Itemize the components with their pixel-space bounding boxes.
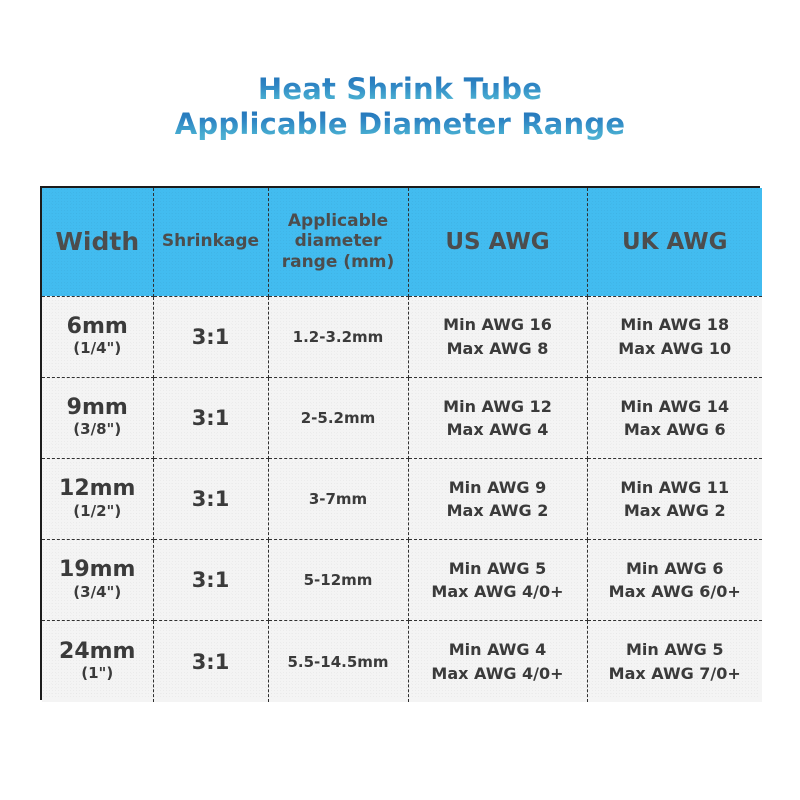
uk-awg-min: Min AWG 18 — [592, 313, 759, 336]
cell-diameter-range: 1.2-3.2mm — [268, 296, 408, 377]
header-range-line-3: range (mm) — [282, 252, 395, 272]
cell-shrinkage: 3:1 — [153, 540, 268, 621]
cell-uk-awg: Min AWG 6 Max AWG 6/0+ — [587, 540, 762, 621]
width-inch-value: (3/4") — [46, 583, 149, 603]
cell-uk-awg: Min AWG 14 Max AWG 6 — [587, 377, 762, 458]
page-title: Heat Shrink Tube Applicable Diameter Ran… — [0, 72, 800, 143]
table-row: 19mm (3/4") 3:1 5-12mm Min AWG 5 Max AWG… — [42, 540, 762, 621]
uk-awg-max: Max AWG 6 — [592, 418, 759, 441]
cell-uk-awg: Min AWG 11 Max AWG 2 — [587, 458, 762, 539]
cell-us-awg: Min AWG 5 Max AWG 4/0+ — [408, 540, 587, 621]
table-row: 12mm (1/2") 3:1 3-7mm Min AWG 9 Max AWG … — [42, 458, 762, 539]
width-inch-value: (1/4") — [46, 339, 149, 359]
column-header-width: Width — [42, 188, 153, 296]
uk-awg-min: Min AWG 5 — [592, 638, 759, 661]
spec-sheet-page: Heat Shrink Tube Applicable Diameter Ran… — [0, 0, 800, 800]
table-body: 6mm (1/4") 3:1 1.2-3.2mm Min AWG 16 Max … — [42, 296, 762, 702]
width-inch-value: (3/8") — [46, 420, 149, 440]
uk-awg-min: Min AWG 11 — [592, 476, 759, 499]
cell-us-awg: Min AWG 16 Max AWG 8 — [408, 296, 587, 377]
uk-awg-max: Max AWG 2 — [592, 499, 759, 522]
width-value: 24mm — [46, 640, 149, 665]
column-header-shrinkage: Shrinkage — [153, 188, 268, 296]
title-line-2: Applicable Diameter Range — [0, 107, 800, 142]
cell-width: 12mm (1/2") — [42, 458, 153, 539]
width-inch-value: (1/2") — [46, 502, 149, 522]
cell-shrinkage: 3:1 — [153, 377, 268, 458]
us-awg-min: Min AWG 12 — [413, 395, 583, 418]
cell-shrinkage: 3:1 — [153, 296, 268, 377]
table-row: 6mm (1/4") 3:1 1.2-3.2mm Min AWG 16 Max … — [42, 296, 762, 377]
cell-shrinkage: 3:1 — [153, 458, 268, 539]
column-header-diameter-range: Applicable diameter range (mm) — [268, 188, 408, 296]
cell-us-awg: Min AWG 12 Max AWG 4 — [408, 377, 587, 458]
column-header-uk-awg: UK AWG — [587, 188, 762, 296]
spec-table-container: Width Shrinkage Applicable diameter rang… — [40, 186, 760, 700]
title-line-1: Heat Shrink Tube — [0, 72, 800, 107]
uk-awg-min: Min AWG 6 — [592, 557, 759, 580]
cell-diameter-range: 2-5.2mm — [268, 377, 408, 458]
cell-width: 24mm (1") — [42, 621, 153, 702]
table-header: Width Shrinkage Applicable diameter rang… — [42, 188, 762, 296]
cell-us-awg: Min AWG 9 Max AWG 2 — [408, 458, 587, 539]
us-awg-max: Max AWG 2 — [413, 499, 583, 522]
cell-uk-awg: Min AWG 18 Max AWG 10 — [587, 296, 762, 377]
cell-us-awg: Min AWG 4 Max AWG 4/0+ — [408, 621, 587, 702]
cell-diameter-range: 5.5-14.5mm — [268, 621, 408, 702]
us-awg-min: Min AWG 4 — [413, 638, 583, 661]
cell-width: 19mm (3/4") — [42, 540, 153, 621]
cell-width: 6mm (1/4") — [42, 296, 153, 377]
column-header-us-awg: US AWG — [408, 188, 587, 296]
width-value: 12mm — [46, 477, 149, 502]
header-range-line-1: Applicable — [288, 211, 388, 231]
us-awg-max: Max AWG 8 — [413, 337, 583, 360]
table-row: 24mm (1") 3:1 5.5-14.5mm Min AWG 4 Max A… — [42, 621, 762, 702]
us-awg-min: Min AWG 5 — [413, 557, 583, 580]
uk-awg-max: Max AWG 10 — [592, 337, 759, 360]
width-value: 6mm — [46, 315, 149, 340]
header-range-line-2: diameter — [295, 231, 382, 251]
cell-diameter-range: 3-7mm — [268, 458, 408, 539]
width-value: 9mm — [46, 396, 149, 421]
table-row: 9mm (3/8") 3:1 2-5.2mm Min AWG 12 Max AW… — [42, 377, 762, 458]
width-inch-value: (1") — [46, 664, 149, 684]
cell-width: 9mm (3/8") — [42, 377, 153, 458]
spec-table: Width Shrinkage Applicable diameter rang… — [42, 188, 762, 702]
cell-diameter-range: 5-12mm — [268, 540, 408, 621]
us-awg-max: Max AWG 4/0+ — [413, 580, 583, 603]
header-row: Width Shrinkage Applicable diameter rang… — [42, 188, 762, 296]
cell-shrinkage: 3:1 — [153, 621, 268, 702]
uk-awg-max: Max AWG 6/0+ — [592, 580, 759, 603]
us-awg-max: Max AWG 4 — [413, 418, 583, 441]
uk-awg-max: Max AWG 7/0+ — [592, 662, 759, 685]
us-awg-max: Max AWG 4/0+ — [413, 662, 583, 685]
us-awg-min: Min AWG 16 — [413, 313, 583, 336]
uk-awg-min: Min AWG 14 — [592, 395, 759, 418]
cell-uk-awg: Min AWG 5 Max AWG 7/0+ — [587, 621, 762, 702]
us-awg-min: Min AWG 9 — [413, 476, 583, 499]
width-value: 19mm — [46, 558, 149, 583]
